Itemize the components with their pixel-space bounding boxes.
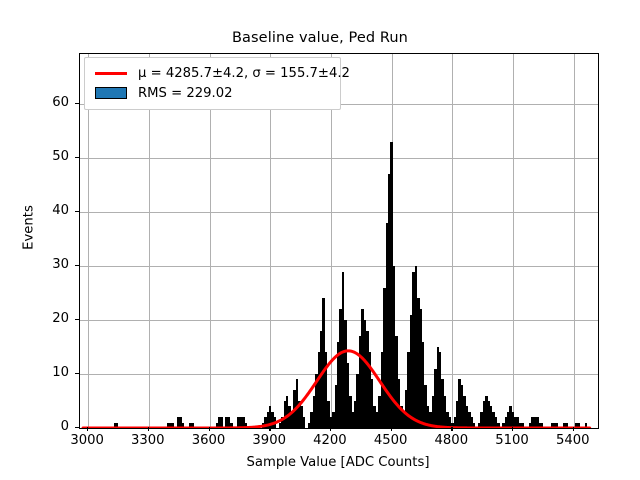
y-tick-mark bbox=[75, 103, 79, 104]
x-tick-mark bbox=[391, 427, 392, 431]
gaussian-fit-curve bbox=[80, 54, 598, 428]
x-tick-mark bbox=[573, 427, 574, 431]
x-tick-mark bbox=[148, 427, 149, 431]
y-tick-label: 50 bbox=[0, 149, 69, 164]
y-tick-mark bbox=[75, 373, 79, 374]
x-tick-label: 3900 bbox=[239, 433, 299, 448]
y-tick-label: 10 bbox=[0, 365, 69, 380]
blue-patch-swatch-icon bbox=[93, 86, 129, 100]
y-tick-label: 20 bbox=[0, 311, 69, 326]
x-tick-label: 5100 bbox=[482, 433, 542, 448]
x-tick-label: 3600 bbox=[179, 433, 239, 448]
y-tick-mark bbox=[75, 265, 79, 266]
y-tick-label: 0 bbox=[0, 419, 69, 434]
x-tick-mark bbox=[209, 427, 210, 431]
x-tick-label: 3300 bbox=[118, 433, 178, 448]
x-tick-label: 5400 bbox=[543, 433, 603, 448]
y-tick-label: 40 bbox=[0, 203, 69, 218]
legend-item-fit-label: μ = 4285.7±4.2, σ = 155.7±4.2 bbox=[138, 66, 350, 81]
y-tick-mark bbox=[75, 427, 79, 428]
legend-item-rms: RMS = 229.02 bbox=[93, 83, 332, 103]
x-tick-mark bbox=[512, 427, 513, 431]
x-tick-label: 4500 bbox=[361, 433, 421, 448]
x-axis-label: Sample Value [ADC Counts] bbox=[79, 455, 597, 470]
x-tick-mark bbox=[87, 427, 88, 431]
x-tick-label: 4800 bbox=[421, 433, 481, 448]
page-title: Baseline value, Ped Run bbox=[0, 30, 640, 46]
x-tick-mark bbox=[330, 427, 331, 431]
red-line-swatch-icon bbox=[93, 66, 129, 80]
y-tick-mark bbox=[75, 157, 79, 158]
y-tick-mark bbox=[75, 319, 79, 320]
legend-box[interactable]: μ = 4285.7±4.2, σ = 155.7±4.2 RMS = 229.… bbox=[84, 57, 341, 110]
x-tick-label: 3000 bbox=[57, 433, 117, 448]
x-tick-mark bbox=[269, 427, 270, 431]
y-tick-mark bbox=[75, 211, 79, 212]
legend-item-rms-label: RMS = 229.02 bbox=[138, 86, 233, 101]
y-tick-label: 30 bbox=[0, 257, 69, 272]
fit-curve-svg bbox=[80, 54, 598, 428]
legend-item-fit: μ = 4285.7±4.2, σ = 155.7±4.2 bbox=[93, 63, 332, 83]
figure-canvas: Baseline value, Ped Run Events Sample Va… bbox=[0, 0, 640, 480]
y-tick-label: 60 bbox=[0, 95, 69, 110]
x-tick-mark bbox=[451, 427, 452, 431]
x-tick-label: 4200 bbox=[300, 433, 360, 448]
